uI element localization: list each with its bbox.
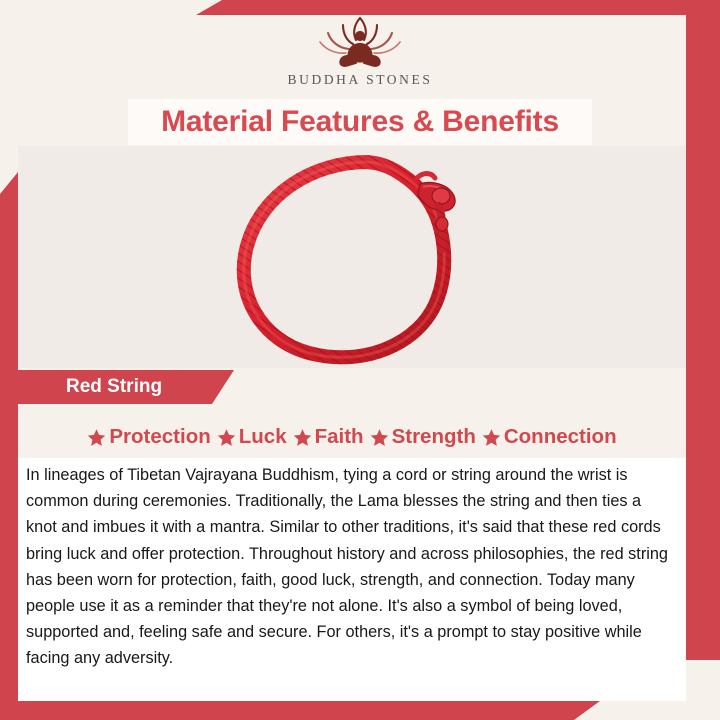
frame-right-bar [686,0,720,680]
frame-top-bar [196,0,720,15]
red-string-bracelet-photo [217,150,487,368]
benefit-label: Luck [239,425,287,449]
star-icon [87,428,106,447]
benefit-item-protection: Protection [87,425,210,449]
product-name-ribbon: Red String [18,370,234,404]
benefit-label: Strength [392,425,476,449]
description-panel: In lineages of Tibetan Vajrayana Buddhis… [18,458,686,701]
frame-right-notch [686,660,720,720]
benefit-item-faith: Faith [293,425,364,449]
title-banner: Material Features & Benefits [128,99,592,145]
benefits-list: Protection Luck Faith Strength Connectio… [18,420,686,454]
benefit-item-connection: Connection [482,425,617,449]
benefit-label: Protection [109,425,210,449]
star-icon [293,428,312,447]
frame-left-bar [0,172,18,708]
description-text: In lineages of Tibetan Vajrayana Buddhis… [26,462,672,672]
star-icon [370,428,389,447]
product-name-label: Red String [66,376,162,398]
benefit-item-luck: Luck [217,425,287,449]
brand-logo: BUDDHA STONES [0,14,720,98]
frame-bottom-bar [0,701,600,720]
benefit-label: Connection [504,425,617,449]
hero-image-panel [18,146,686,368]
infographic-page: BUDDHA STONES Material Features & Benefi… [0,0,720,720]
benefit-item-strength: Strength [370,425,476,449]
brand-wordmark: BUDDHA STONES [288,72,433,88]
page-title: Material Features & Benefits [161,105,559,139]
star-icon [217,428,236,447]
lotus-meditation-icon [312,14,408,70]
star-icon [482,428,501,447]
benefit-label: Faith [315,425,364,449]
